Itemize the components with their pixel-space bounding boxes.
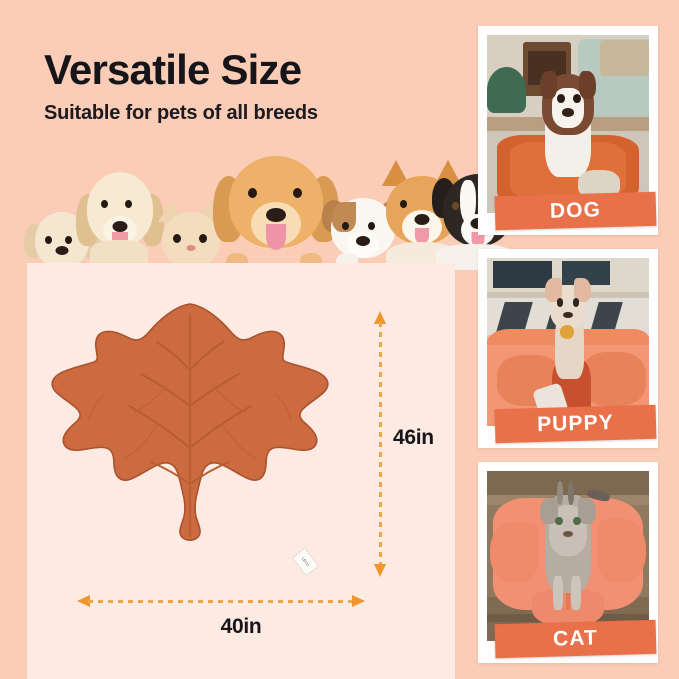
photo-dog [487, 35, 649, 213]
card-label-text: PUPPY [537, 411, 614, 437]
card-label-banner-puppy: PUPPY [495, 405, 657, 443]
headline-block: Versatile Size Suitable for pets of all … [44, 48, 444, 125]
card-label-banner-dog: DOG [495, 192, 657, 230]
card-label-banner-cat: CAT [495, 620, 657, 658]
photo-cat [487, 471, 649, 641]
photo-card-dog[interactable]: DOG [478, 26, 658, 235]
pet-group-photo [18, 152, 448, 270]
arrow-down-icon [374, 564, 386, 577]
photo-card-puppy[interactable]: PUPPY [478, 249, 658, 448]
product-panel: LECO 46in 40in [27, 263, 455, 679]
brand-tag-text: LECO [299, 555, 311, 569]
card-label-text: CAT [553, 626, 599, 651]
height-dimension-indicator [373, 311, 387, 577]
width-dimension-indicator [77, 594, 365, 608]
width-label: 40in [27, 615, 455, 639]
page-title: Versatile Size [44, 48, 444, 93]
photo-puppy [487, 258, 649, 426]
card-label-text: DOG [550, 198, 602, 223]
height-label: 46in [393, 426, 434, 450]
dimension-dashed-line [379, 322, 382, 566]
left-column: Versatile Size Suitable for pets of all … [0, 0, 466, 679]
brand-tag: LECO [293, 549, 318, 576]
pet-golden-retriever-small [76, 166, 164, 270]
photo-card-cat[interactable]: CAT [478, 462, 658, 663]
photo-card-column: DOG [478, 26, 658, 677]
arrow-right-icon [352, 595, 365, 607]
dimension-dashed-line [88, 600, 354, 603]
page-subtitle: Suitable for pets of all breeds [44, 102, 444, 125]
maple-leaf-mat-svg [45, 298, 335, 548]
leaf-mat-illustration [45, 298, 335, 548]
